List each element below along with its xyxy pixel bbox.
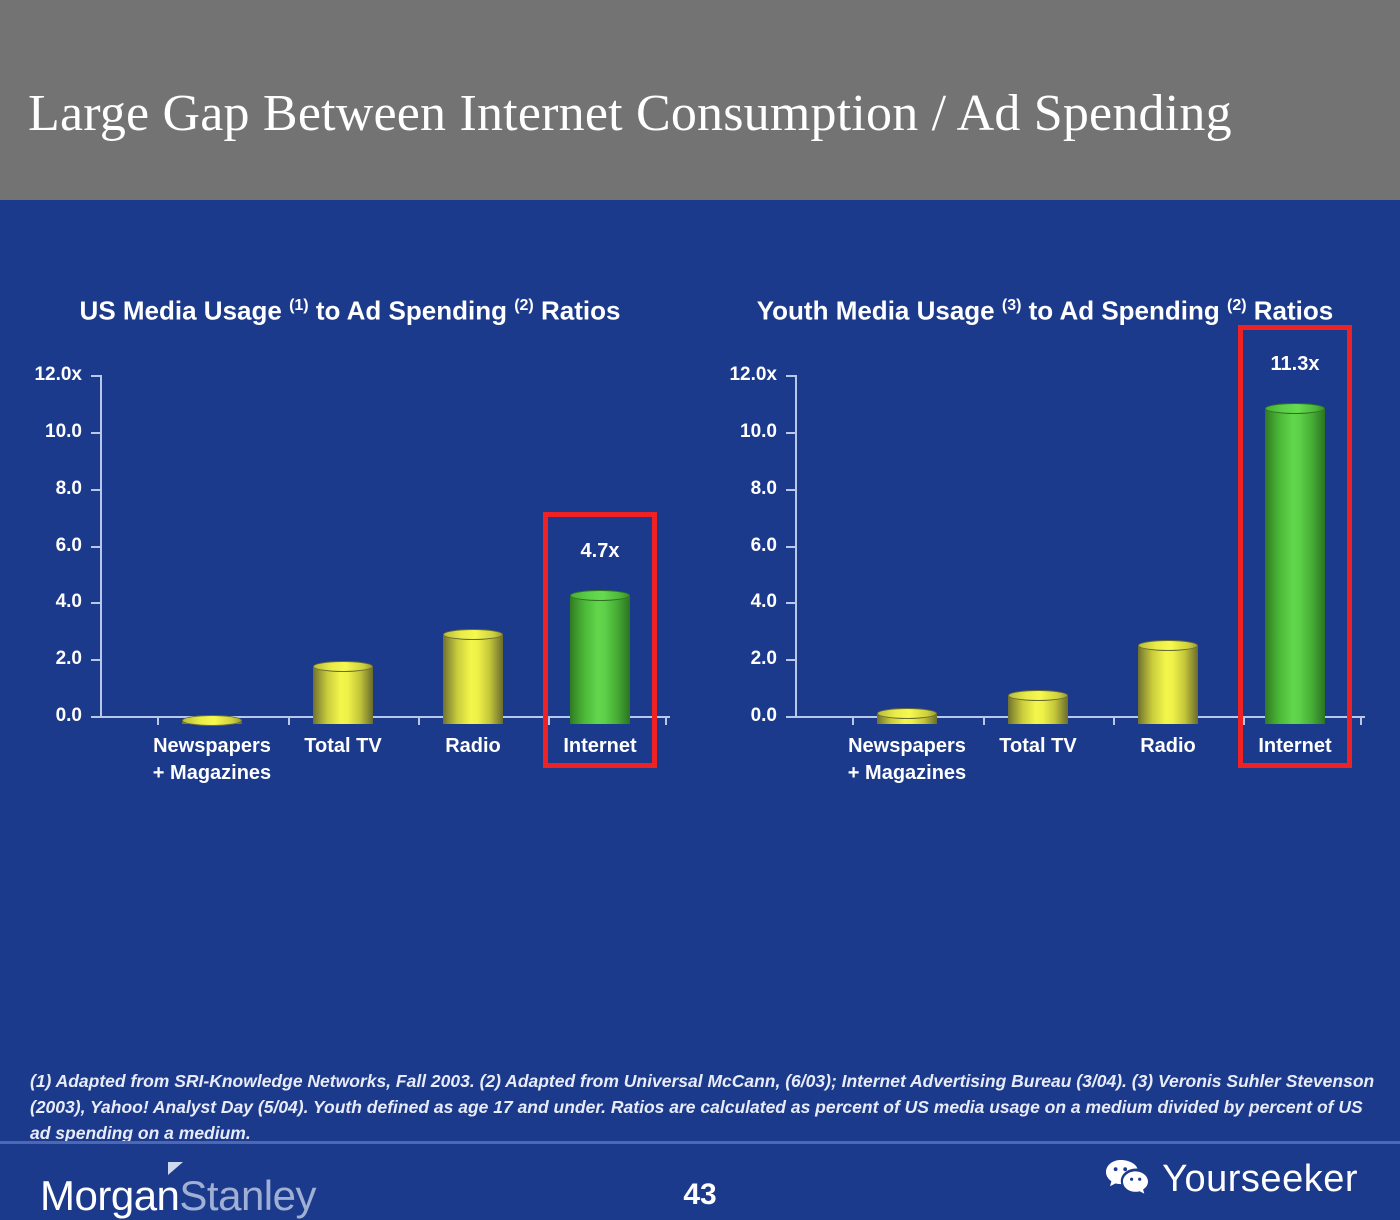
y-axis-tick xyxy=(91,375,100,377)
y-axis-tick-label: 10.0 xyxy=(687,421,777,443)
slide-header: Large Gap Between Internet Consumption /… xyxy=(0,0,1400,200)
x-axis-category-label: Internet xyxy=(1215,733,1375,760)
y-axis-tick-label: 2.0 xyxy=(0,648,82,670)
y-axis-tick-label: 4.0 xyxy=(687,591,777,613)
bar-body xyxy=(443,634,503,724)
bar-internet xyxy=(570,590,630,724)
y-axis-line xyxy=(795,375,797,718)
bar-cap xyxy=(443,629,503,640)
y-axis-tick xyxy=(786,602,795,604)
bar-radio xyxy=(443,629,503,724)
chart-title-youth-media-usage: Youth Media Usage (3) to Ad Spending (2)… xyxy=(700,288,1390,329)
chart-title-text-c: Ratios xyxy=(534,296,621,326)
morgan-stanley-triangle-icon xyxy=(168,1162,183,1175)
y-axis-tick-label: 2.0 xyxy=(687,648,777,670)
chart-title-text-b: to Ad Spending xyxy=(1021,296,1227,326)
bar-internet xyxy=(1265,403,1325,724)
bar-value-label: 4.7x xyxy=(540,540,660,563)
x-axis-category-label: Internet xyxy=(520,733,680,760)
bar-cap xyxy=(1008,690,1068,701)
footnote-ref-2: (2) xyxy=(514,297,534,314)
bar-newspapers-magazines xyxy=(877,708,937,724)
chart-title-text-b: to Ad Spending xyxy=(309,296,515,326)
bar-body xyxy=(1265,408,1325,724)
y-axis-tick xyxy=(786,375,795,377)
x-axis-tick xyxy=(1243,716,1245,725)
y-axis-tick-label: 0.0 xyxy=(0,705,82,727)
page-title: Large Gap Between Internet Consumption /… xyxy=(28,84,1378,143)
bar-cap xyxy=(182,715,242,726)
y-axis-tick-label: 10.0 xyxy=(0,421,82,443)
y-axis-line xyxy=(100,375,102,718)
brand-watermark: Yourseeker xyxy=(1104,1158,1358,1201)
x-axis-tick xyxy=(1113,716,1115,725)
x-axis-tick xyxy=(1360,716,1362,725)
chart-panel-youth-media-usage: Youth Media Usage (3) to Ad Spending (2)… xyxy=(700,200,1390,820)
y-axis-tick-label: 8.0 xyxy=(0,478,82,500)
y-axis-tick xyxy=(91,602,100,604)
footnote-ref-2: (2) xyxy=(1227,297,1247,314)
y-axis-tick xyxy=(91,659,100,661)
chart-title-text-a: US Media Usage xyxy=(80,296,290,326)
bar-body xyxy=(313,666,373,724)
bar-value-label: 11.3x xyxy=(1235,353,1355,376)
y-axis-tick-label: 0.0 xyxy=(687,705,777,727)
bar-newspapers-magazines xyxy=(182,715,242,724)
y-axis-tick-label: 8.0 xyxy=(687,478,777,500)
bar-total-tv xyxy=(313,661,373,724)
y-axis-tick xyxy=(786,546,795,548)
y-axis-tick xyxy=(786,489,795,491)
brand-name: Yourseeker xyxy=(1162,1158,1358,1201)
x-axis-tick xyxy=(418,716,420,725)
x-axis-tick xyxy=(288,716,290,725)
footnote-ref-3: (3) xyxy=(1002,297,1022,314)
bar-body xyxy=(1138,645,1198,724)
y-axis-tick-label: 6.0 xyxy=(687,535,777,557)
y-axis-tick-label: 4.0 xyxy=(0,591,82,613)
chart-title-text-a: Youth Media Usage xyxy=(757,296,1002,326)
y-axis-tick xyxy=(91,546,100,548)
y-axis-tick xyxy=(91,716,100,718)
y-axis-tick xyxy=(91,432,100,434)
y-axis-tick xyxy=(91,489,100,491)
y-axis-tick xyxy=(786,659,795,661)
x-axis-tick xyxy=(548,716,550,725)
bar-body xyxy=(570,595,630,724)
bar-cap xyxy=(1265,403,1325,414)
y-axis-tick xyxy=(786,716,795,718)
chart-title-text-c: Ratios xyxy=(1247,296,1334,326)
plot-area-youth-media-usage: 0.02.04.06.08.010.012.0xNewspapers+ Maga… xyxy=(795,375,1365,725)
footnote-ref-1: (1) xyxy=(289,297,309,314)
x-axis-tick xyxy=(157,716,159,725)
plot-area-us-media-usage: 0.02.04.06.08.010.012.0xNewspapers+ Maga… xyxy=(100,375,670,725)
bar-total-tv xyxy=(1008,690,1068,724)
y-axis-tick-label: 12.0x xyxy=(687,364,777,386)
y-axis-tick xyxy=(786,432,795,434)
x-axis-tick xyxy=(852,716,854,725)
chart-panel-us-media-usage: US Media Usage (1) to Ad Spending (2) Ra… xyxy=(5,200,695,820)
y-axis-tick-label: 6.0 xyxy=(0,535,82,557)
bar-radio xyxy=(1138,640,1198,724)
x-axis-tick xyxy=(983,716,985,725)
chart-title-us-media-usage: US Media Usage (1) to Ad Spending (2) Ra… xyxy=(5,288,695,329)
wechat-icon xyxy=(1104,1158,1150,1201)
x-axis-tick xyxy=(665,716,667,725)
footer-divider xyxy=(0,1141,1400,1144)
y-axis-tick-label: 12.0x xyxy=(0,364,82,386)
footnote-text: (1) Adapted from SRI-Knowledge Networks,… xyxy=(30,1068,1375,1146)
slide-body: US Media Usage (1) to Ad Spending (2) Ra… xyxy=(0,200,1400,1042)
